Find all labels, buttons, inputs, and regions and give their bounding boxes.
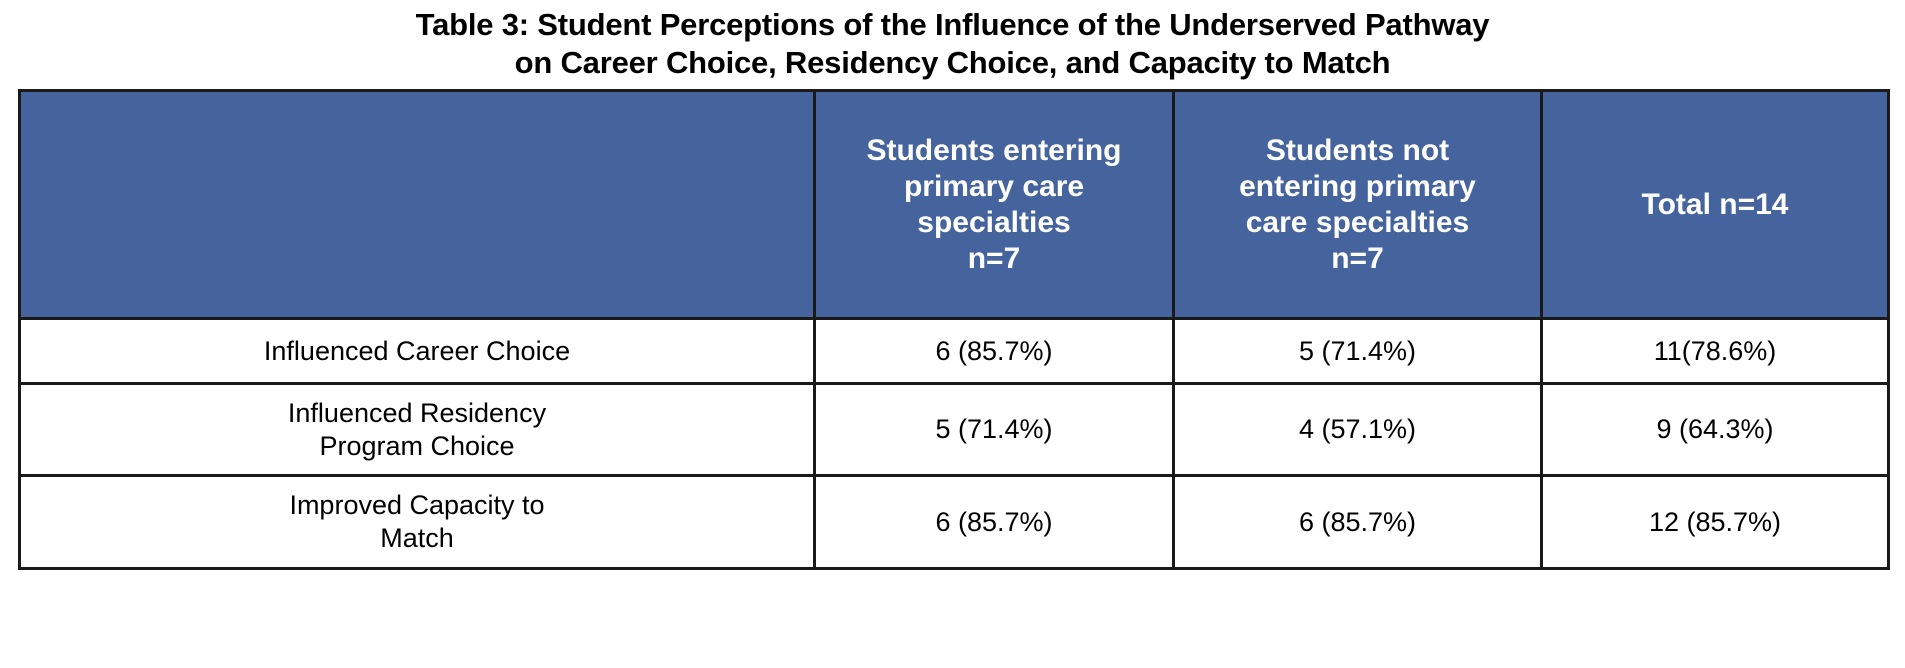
cell-value: 6 (85.7%) bbox=[816, 506, 1172, 539]
cell-value: 4 (57.1%) bbox=[1175, 413, 1540, 446]
table-header-cell-corner bbox=[20, 91, 815, 319]
table-header-cell-total: Total n=14 bbox=[1542, 91, 1889, 319]
table-caption-line-1: Table 3: Student Perceptions of the Infl… bbox=[0, 6, 1905, 44]
table-cell-capacity-to-match-non-primary-care: 6 (85.7%) bbox=[1174, 476, 1542, 569]
student-perceptions-table: Students entering primary care specialti… bbox=[18, 89, 1890, 570]
table-cell-residency-choice-non-primary-care: 4 (57.1%) bbox=[1174, 384, 1542, 476]
table-figure-page: Table 3: Student Perceptions of the Infl… bbox=[0, 0, 1905, 668]
table-container: Students entering primary care specialti… bbox=[18, 89, 1887, 570]
cell-value: 6 (85.7%) bbox=[816, 335, 1172, 368]
table-header-label-total: Total n=14 bbox=[1543, 187, 1887, 223]
table-header-cell-non-primary-care: Students not entering primary care speci… bbox=[1174, 91, 1542, 319]
cell-value: 9 (64.3%) bbox=[1543, 413, 1887, 446]
table-row: Influenced Residency Program Choice 5 (7… bbox=[20, 384, 1889, 476]
table-header-label-non-primary-care: Students not entering primary care speci… bbox=[1175, 133, 1540, 277]
table-cell-capacity-to-match-total: 12 (85.7%) bbox=[1542, 476, 1889, 569]
table-caption: Table 3: Student Perceptions of the Infl… bbox=[0, 6, 1905, 82]
cell-value: 11(78.6%) bbox=[1543, 335, 1887, 368]
table-cell-capacity-to-match-primary-care: 6 (85.7%) bbox=[815, 476, 1174, 569]
row-label-text: Influenced Career Choice bbox=[21, 335, 813, 368]
cell-value: 12 (85.7%) bbox=[1543, 506, 1887, 539]
table-cell-residency-choice-primary-care: 5 (71.4%) bbox=[815, 384, 1174, 476]
table-row: Influenced Career Choice 6 (85.7%) 5 (71… bbox=[20, 319, 1889, 384]
table-cell-career-choice-primary-care: 6 (85.7%) bbox=[815, 319, 1174, 384]
table-row-label-career-choice: Influenced Career Choice bbox=[20, 319, 815, 384]
cell-value: 6 (85.7%) bbox=[1175, 506, 1540, 539]
row-label-text: Influenced Residency Program Choice bbox=[21, 397, 813, 463]
table-row-label-capacity-to-match: Improved Capacity to Match bbox=[20, 476, 815, 569]
table-cell-career-choice-non-primary-care: 5 (71.4%) bbox=[1174, 319, 1542, 384]
cell-value: 5 (71.4%) bbox=[1175, 335, 1540, 368]
cell-value: 5 (71.4%) bbox=[816, 413, 1172, 446]
table-body: Influenced Career Choice 6 (85.7%) 5 (71… bbox=[20, 319, 1889, 569]
table-header-label-primary-care: Students entering primary care specialti… bbox=[816, 133, 1172, 277]
table-caption-line-2: on Career Choice, Residency Choice, and … bbox=[0, 44, 1905, 82]
table-cell-career-choice-total: 11(78.6%) bbox=[1542, 319, 1889, 384]
table-header-row: Students entering primary care specialti… bbox=[20, 91, 1889, 319]
row-label-text: Improved Capacity to Match bbox=[21, 489, 813, 555]
table-row: Improved Capacity to Match 6 (85.7%) 6 (… bbox=[20, 476, 1889, 569]
table-header-cell-primary-care: Students entering primary care specialti… bbox=[815, 91, 1174, 319]
table-row-label-residency-choice: Influenced Residency Program Choice bbox=[20, 384, 815, 476]
table-cell-residency-choice-total: 9 (64.3%) bbox=[1542, 384, 1889, 476]
